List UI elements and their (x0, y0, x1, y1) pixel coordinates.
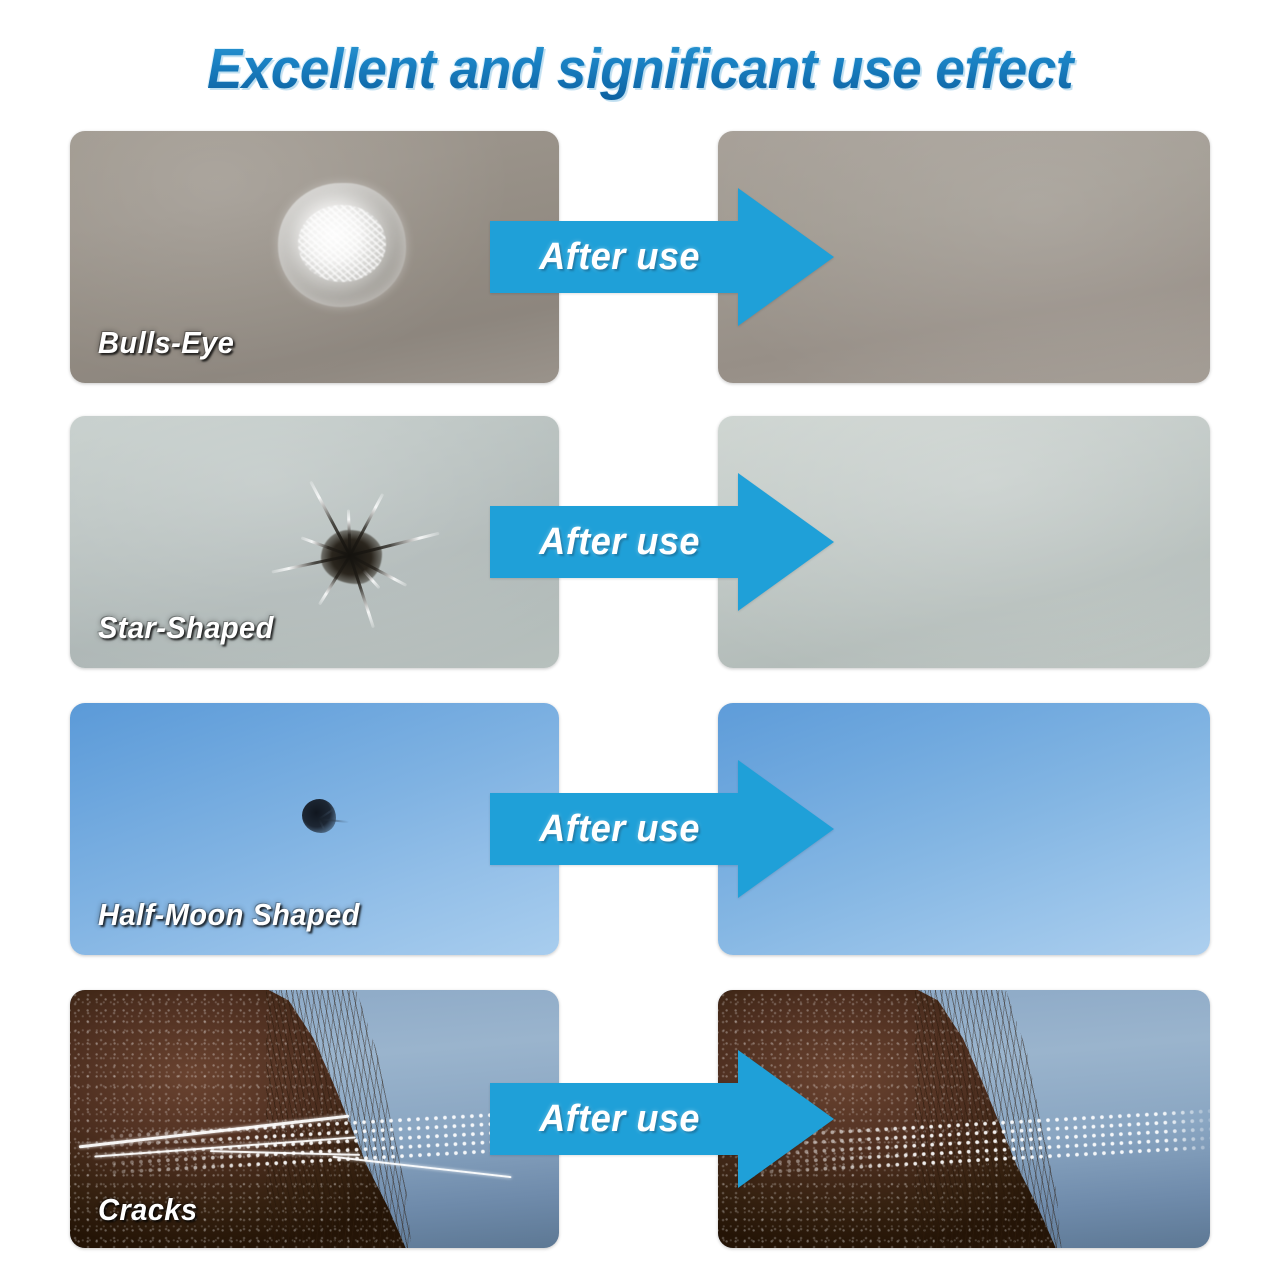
page-title: Excellent and significant use effect (45, 36, 1235, 102)
right-arrow-icon (486, 471, 838, 613)
after-use-arrow: After use (486, 471, 838, 613)
after-use-arrow: After use (486, 186, 838, 328)
comparison-row-half-moon: Half-Moon Shaped After use (0, 703, 1280, 955)
damage-halfmoon-icon (302, 799, 336, 833)
right-arrow-icon (486, 758, 838, 900)
damage-label: Half-Moon Shaped (98, 897, 360, 933)
comparison-row-cracks: Cracks After use (0, 990, 1280, 1248)
infographic-canvas: Excellent and significant use effect Bul… (0, 0, 1280, 1280)
after-use-arrow: After use (486, 758, 838, 900)
comparison-row-bulls-eye: Bulls-Eye After use (0, 131, 1280, 383)
damage-bullseye-icon (278, 183, 406, 307)
damage-label: Cracks (98, 1192, 197, 1228)
after-use-arrow: After use (486, 1048, 838, 1190)
right-arrow-icon (486, 1048, 838, 1190)
damage-label: Bulls-Eye (98, 325, 234, 361)
right-arrow-icon (486, 186, 838, 328)
damage-label: Star-Shaped (98, 610, 274, 646)
damage-star-icon (260, 478, 440, 630)
comparison-row-star-shaped: Star-Shaped After use (0, 416, 1280, 668)
